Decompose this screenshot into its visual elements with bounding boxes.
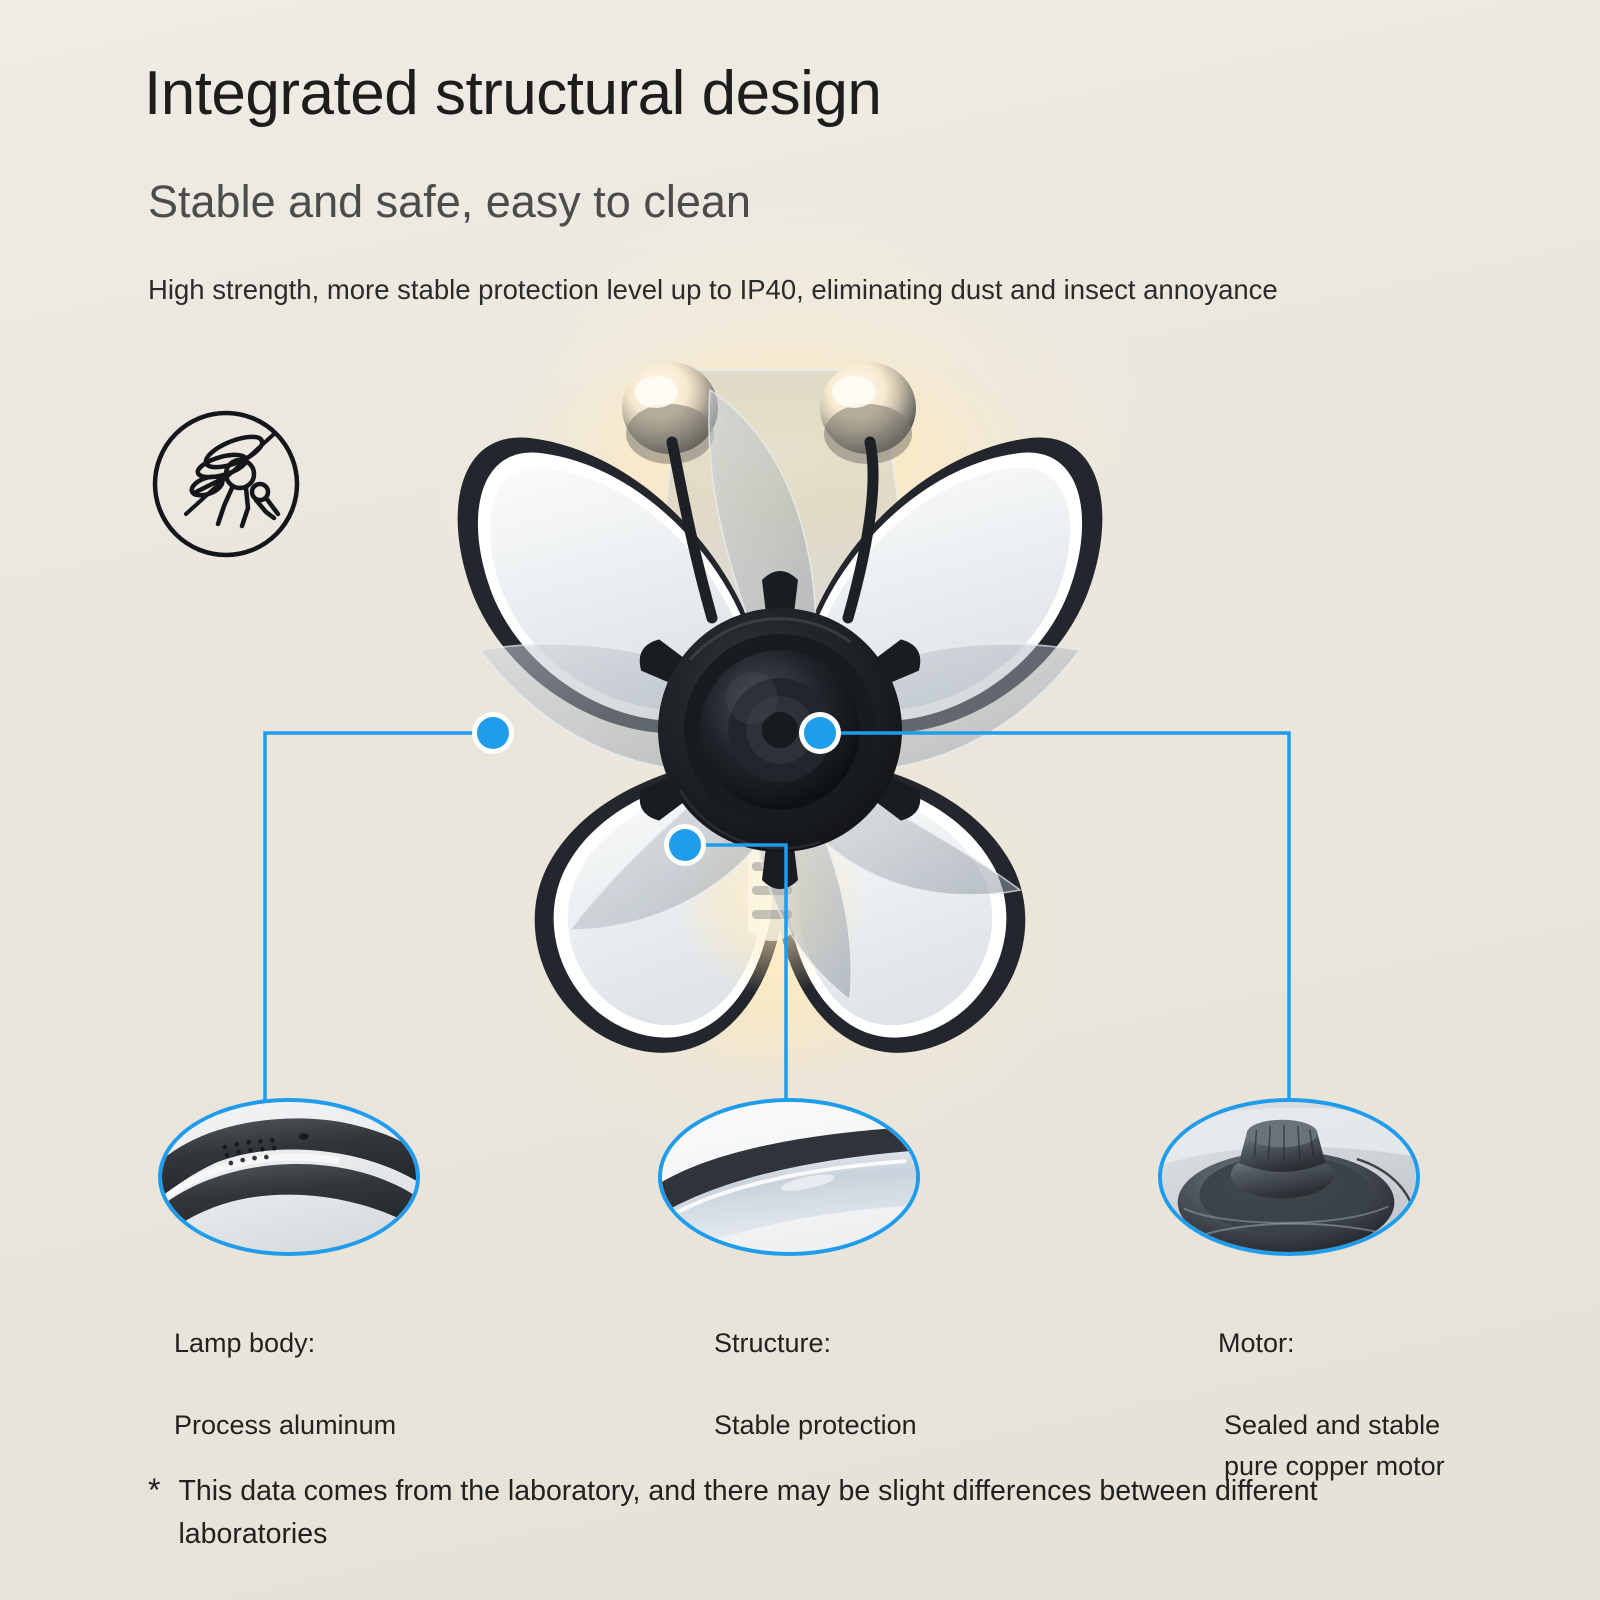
callout-zoom-motor xyxy=(1158,1098,1420,1256)
footnote-text: This data comes from the laboratory, and… xyxy=(178,1470,1468,1556)
infographic-page: Integrated structural design Stable and … xyxy=(0,0,1600,1600)
callout-label-lamp-body: Lamp body: Process aluminum xyxy=(174,1282,396,1487)
callout-zoom-lamp-body xyxy=(158,1098,420,1256)
callout-lamp-body-image xyxy=(160,1100,418,1256)
product-image xyxy=(380,330,1180,1120)
callout-zoom-structure xyxy=(658,1098,920,1256)
page-subtitle: Stable and safe, easy to clean xyxy=(148,176,751,228)
motor-hub xyxy=(658,608,902,852)
callout-label-lamp-body-title: Lamp body: xyxy=(174,1323,396,1364)
page-title: Integrated structural design xyxy=(144,58,881,129)
footnote-asterisk: * xyxy=(148,1470,160,1556)
callout-label-structure-title: Structure: xyxy=(714,1323,917,1364)
page-description: High strength, more stable protection le… xyxy=(148,270,1418,310)
callout-label-structure: Structure: Stable protection xyxy=(714,1282,917,1487)
callout-label-structure-value: Stable protection xyxy=(714,1405,917,1446)
callout-label-lamp-body-value: Process aluminum xyxy=(174,1405,396,1446)
product-illustration xyxy=(380,330,1180,1120)
callout-motor-image xyxy=(1160,1100,1418,1256)
callout-structure-image xyxy=(660,1100,918,1256)
footnote: * This data comes from the laboratory, a… xyxy=(148,1470,1468,1556)
no-mosquito-icon xyxy=(150,408,302,560)
callout-label-motor-title: Motor: xyxy=(1218,1323,1445,1364)
